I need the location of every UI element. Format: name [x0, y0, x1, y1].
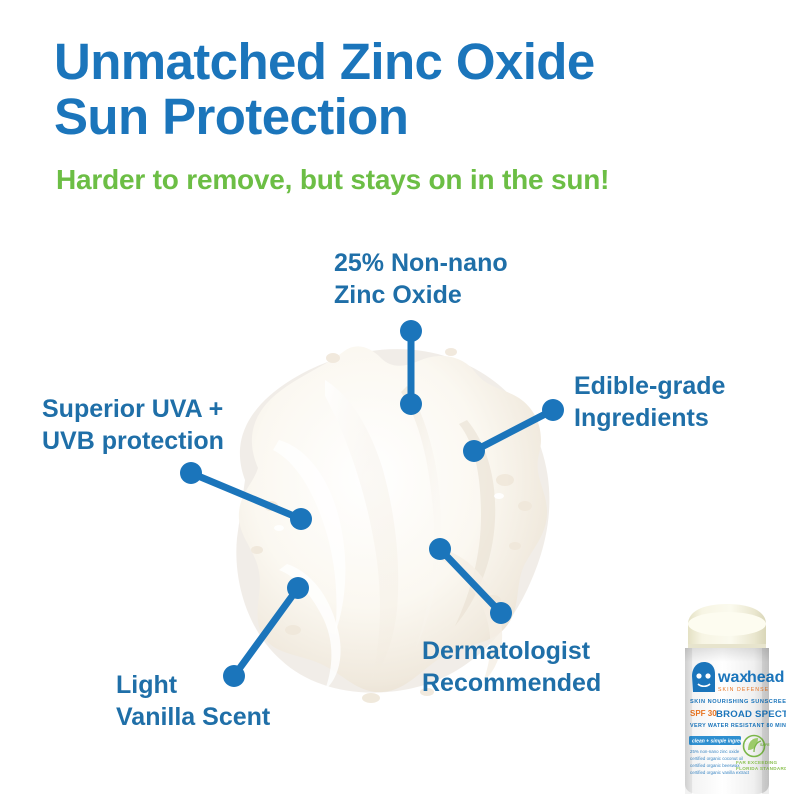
product-brand-sub: SKIN DEFENSE	[718, 687, 769, 693]
callout-label-edible: Edible-grade Ingredients	[574, 371, 725, 434]
headline-line-2: Sun Protection	[54, 89, 754, 144]
product-seal-line-1: FAR EXCEEDING	[736, 760, 778, 765]
product-brand-wax: wax	[717, 669, 748, 686]
product-seal-line-2: FLORIDA STANDARDS	[736, 766, 786, 771]
page-title: Unmatched Zinc Oxide Sun Protection	[54, 34, 754, 144]
callout-label-vanilla: Light Vanilla Scent	[116, 670, 270, 733]
product-spectrum: BROAD SPECTRUM	[716, 709, 786, 720]
infographic-poster: Unmatched Zinc Oxide Sun Protection Hard…	[0, 0, 800, 800]
callout-label-derma: Dermatologist Recommended	[422, 636, 601, 699]
callout-label-uva: Superior UVA + UVB protection	[42, 394, 224, 457]
product-water-resistant: VERY WATER RESISTANT 80 MINUTES	[690, 723, 786, 729]
headline-line-1: Unmatched Zinc Oxide	[54, 34, 754, 89]
product-spf: SPF 30	[690, 709, 717, 718]
product-sunscreen-stick: wax head SKIN DEFENSE SKIN NOURISHING SU…	[668, 596, 786, 800]
product-ingredient-0: 25% non-nano zinc oxide	[690, 749, 740, 754]
product-line-nourishing: SKIN NOURISHING SUNSCREEN	[690, 699, 786, 705]
product-ingredient-2: certified organic beeswax	[690, 763, 740, 768]
subheadline: Harder to remove, but stays on in the su…	[56, 164, 609, 196]
callout-label-zinc: 25% Non-nano Zinc Oxide	[334, 248, 508, 311]
